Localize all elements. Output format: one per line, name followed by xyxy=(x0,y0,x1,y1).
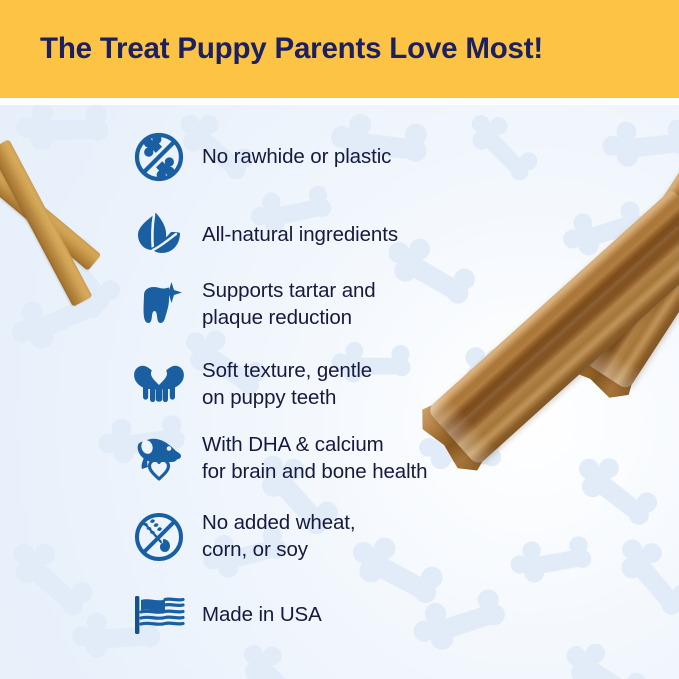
feature-label: No rawhide or plastic xyxy=(202,144,391,171)
feature-item-tartar: Supports tartar and plaque reduction xyxy=(128,274,376,336)
banner-divider xyxy=(0,98,679,105)
feature-label: Made in USA xyxy=(202,602,322,629)
feature-label: All-natural ingredients xyxy=(202,222,398,249)
feature-item-made-in-usa: Made in USA xyxy=(128,584,322,646)
page-title: The Treat Puppy Parents Love Most! xyxy=(40,32,543,66)
feature-item-no-rawhide: No rawhide or plastic xyxy=(128,126,391,188)
product-infographic: The Treat Puppy Parents Love Most! No ra… xyxy=(0,0,679,679)
usa-flag-icon xyxy=(128,584,190,646)
feature-label: With DHA & calcium for brain and bone he… xyxy=(202,432,427,485)
feature-item-soft-texture: Soft texture, gentle on puppy teeth xyxy=(128,354,372,416)
no-rawhide-icon xyxy=(128,126,190,188)
header-banner: The Treat Puppy Parents Love Most! xyxy=(0,0,679,98)
dog-heart-icon xyxy=(128,428,190,490)
feature-item-all-natural: All-natural ingredients xyxy=(128,204,398,266)
no-wheat-icon xyxy=(128,506,190,568)
leaves-icon xyxy=(128,204,190,266)
feature-label: No added wheat, corn, or soy xyxy=(202,510,356,563)
feature-label: Soft texture, gentle on puppy teeth xyxy=(202,358,372,411)
tooth-sparkle-icon xyxy=(128,274,190,336)
feature-item-no-wheat: No added wheat, corn, or soy xyxy=(128,506,356,568)
feature-label: Supports tartar and plaque reduction xyxy=(202,278,376,331)
hands-heart-icon xyxy=(128,354,190,416)
feature-item-dha-calcium: With DHA & calcium for brain and bone he… xyxy=(128,428,427,490)
